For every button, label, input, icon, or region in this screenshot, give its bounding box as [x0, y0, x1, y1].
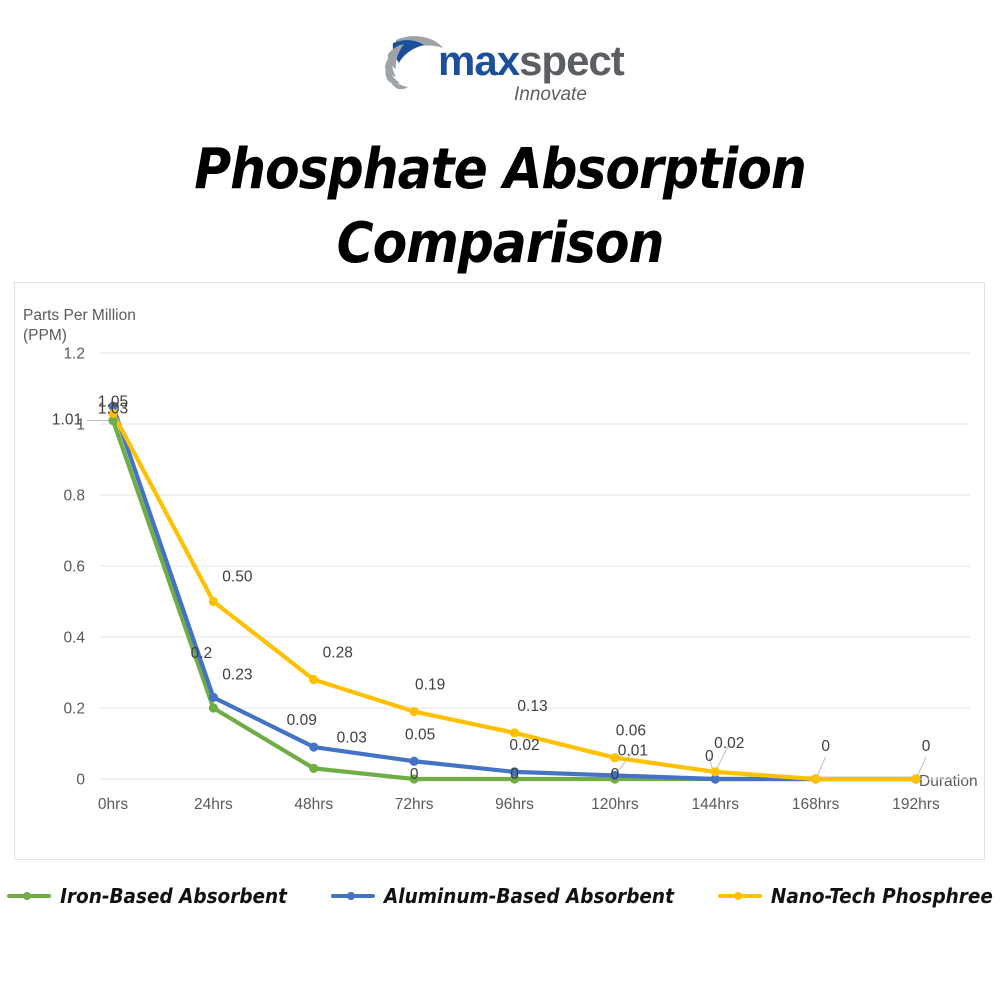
- x-axis-tick-label: 192hrs: [892, 796, 940, 813]
- page-title-line-2: Comparison: [0, 207, 1000, 281]
- series-data-label: 0.02: [714, 735, 744, 752]
- brand-logo: maxspect Innovate: [383, 26, 623, 126]
- y-axis-caption-line-2: (PPM): [23, 327, 67, 344]
- x-axis-tick-label: 48hrs: [294, 796, 333, 813]
- chart-container: Parts Per Million (PPM) Duration 00.20.4…: [14, 282, 985, 860]
- series-data-label: 0.06: [616, 723, 646, 740]
- series-data-label: 0.05: [405, 726, 435, 743]
- brand-wordmark-max: max: [438, 37, 519, 84]
- series-data-label: 0: [410, 766, 419, 783]
- series-data-point: [811, 774, 820, 783]
- brand-tagline: Innovate: [514, 84, 587, 106]
- series-data-point: [711, 767, 720, 776]
- x-axis-tick-label: 0hrs: [98, 796, 128, 813]
- series-data-point: [309, 742, 318, 751]
- legend-swatch-icon-aluminum: [331, 889, 375, 903]
- y-axis-tick-label: 0.6: [63, 559, 85, 576]
- y-axis-tick-label: 0.2: [63, 701, 85, 718]
- x-axis-tick-label: 24hrs: [194, 796, 233, 813]
- y-axis-caption-line-1: Parts Per Million: [23, 307, 136, 324]
- brand-logo-area: maxspect Innovate: [0, 26, 1000, 126]
- series-data-point: [410, 757, 419, 766]
- series-data-label: 0: [611, 766, 620, 783]
- series-data-point: [209, 703, 218, 712]
- series-line: [113, 420, 916, 779]
- x-axis-tick-label: 96hrs: [495, 796, 534, 813]
- y-axis-tick-label: 0.8: [63, 488, 85, 505]
- x-axis-tick-label: 72hrs: [395, 796, 434, 813]
- series-data-label: 0.2: [191, 645, 213, 662]
- series-data-label: 0: [510, 766, 519, 783]
- line-chart: Parts Per Million (PPM) Duration 00.20.4…: [15, 283, 986, 861]
- series-data-label: 0.13: [517, 698, 547, 715]
- brand-wordmark-spect: spect: [519, 37, 624, 84]
- x-axis-tick-label: 144hrs: [692, 796, 740, 813]
- legend-item-aluminum-based-absorbent[interactable]: Aluminum-Based Absorbent: [331, 884, 674, 908]
- x-axis-tick-label: 120hrs: [591, 796, 639, 813]
- chart-series-lines: [113, 406, 916, 779]
- legend-item-iron-based-absorbent[interactable]: Iron-Based Absorbent: [7, 884, 287, 908]
- series-data-label: 0.50: [222, 569, 253, 586]
- series-line: [113, 406, 916, 779]
- y-axis-tick-label: 0: [76, 772, 85, 789]
- series-line: [113, 413, 916, 779]
- data-label-leader-lines: [87, 406, 926, 783]
- series-data-point: [911, 774, 920, 783]
- chart-series-markers: [108, 402, 920, 784]
- series-data-point: [309, 764, 318, 773]
- series-data-label: 0: [705, 748, 714, 765]
- legend-swatch-icon-nanotech: [718, 889, 762, 903]
- series-data-label: 0: [922, 738, 931, 755]
- series-data-label: 0.02: [509, 737, 539, 754]
- page-title: Phosphate Absorption Comparison: [0, 133, 1000, 281]
- series-data-label: 0.09: [287, 712, 317, 729]
- brand-wordmark: maxspect: [438, 40, 624, 82]
- series-data-label: 0.23: [222, 666, 252, 683]
- y-axis-tick-label: 1.2: [63, 346, 85, 363]
- x-axis-caption: Duration: [919, 773, 978, 790]
- series-data-point: [309, 675, 318, 684]
- chart-legend: Iron-Based Absorbent Aluminum-Based Abso…: [0, 884, 1000, 908]
- legend-label-nanotech: Nano-Tech Phosphree: [771, 884, 993, 908]
- legend-label-iron: Iron-Based Absorbent: [60, 884, 287, 908]
- series-data-point: [209, 597, 218, 606]
- y-axis-tick-label: 0.4: [63, 630, 85, 647]
- series-data-label: 1.01: [52, 411, 82, 428]
- series-data-point: [410, 707, 419, 716]
- legend-label-aluminum: Aluminum-Based Absorbent: [384, 884, 674, 908]
- page-title-line-1: Phosphate Absorption: [0, 133, 1000, 207]
- series-data-label: 1.03: [98, 400, 128, 417]
- legend-item-nano-tech-phosphree[interactable]: Nano-Tech Phosphree: [718, 884, 993, 908]
- chart-data-labels: 1.010.20.030001.050.230.090.050.020.0101…: [52, 393, 931, 783]
- x-axis-tick-label: 168hrs: [792, 796, 840, 813]
- x-axis-tick-labels: 0hrs24hrs48hrs72hrs96hrs120hrs144hrs168h…: [98, 796, 940, 813]
- maxspect-swirl-logo-icon: [383, 34, 445, 92]
- series-data-label: 0: [821, 738, 830, 755]
- chart-gridlines: [99, 353, 970, 779]
- series-data-point: [209, 693, 218, 702]
- series-data-label: 0.19: [415, 677, 445, 694]
- series-data-label: 0.01: [618, 742, 648, 759]
- series-data-label: 0.03: [337, 729, 367, 746]
- series-data-label: 0.28: [323, 645, 353, 662]
- legend-swatch-icon-iron: [7, 889, 51, 903]
